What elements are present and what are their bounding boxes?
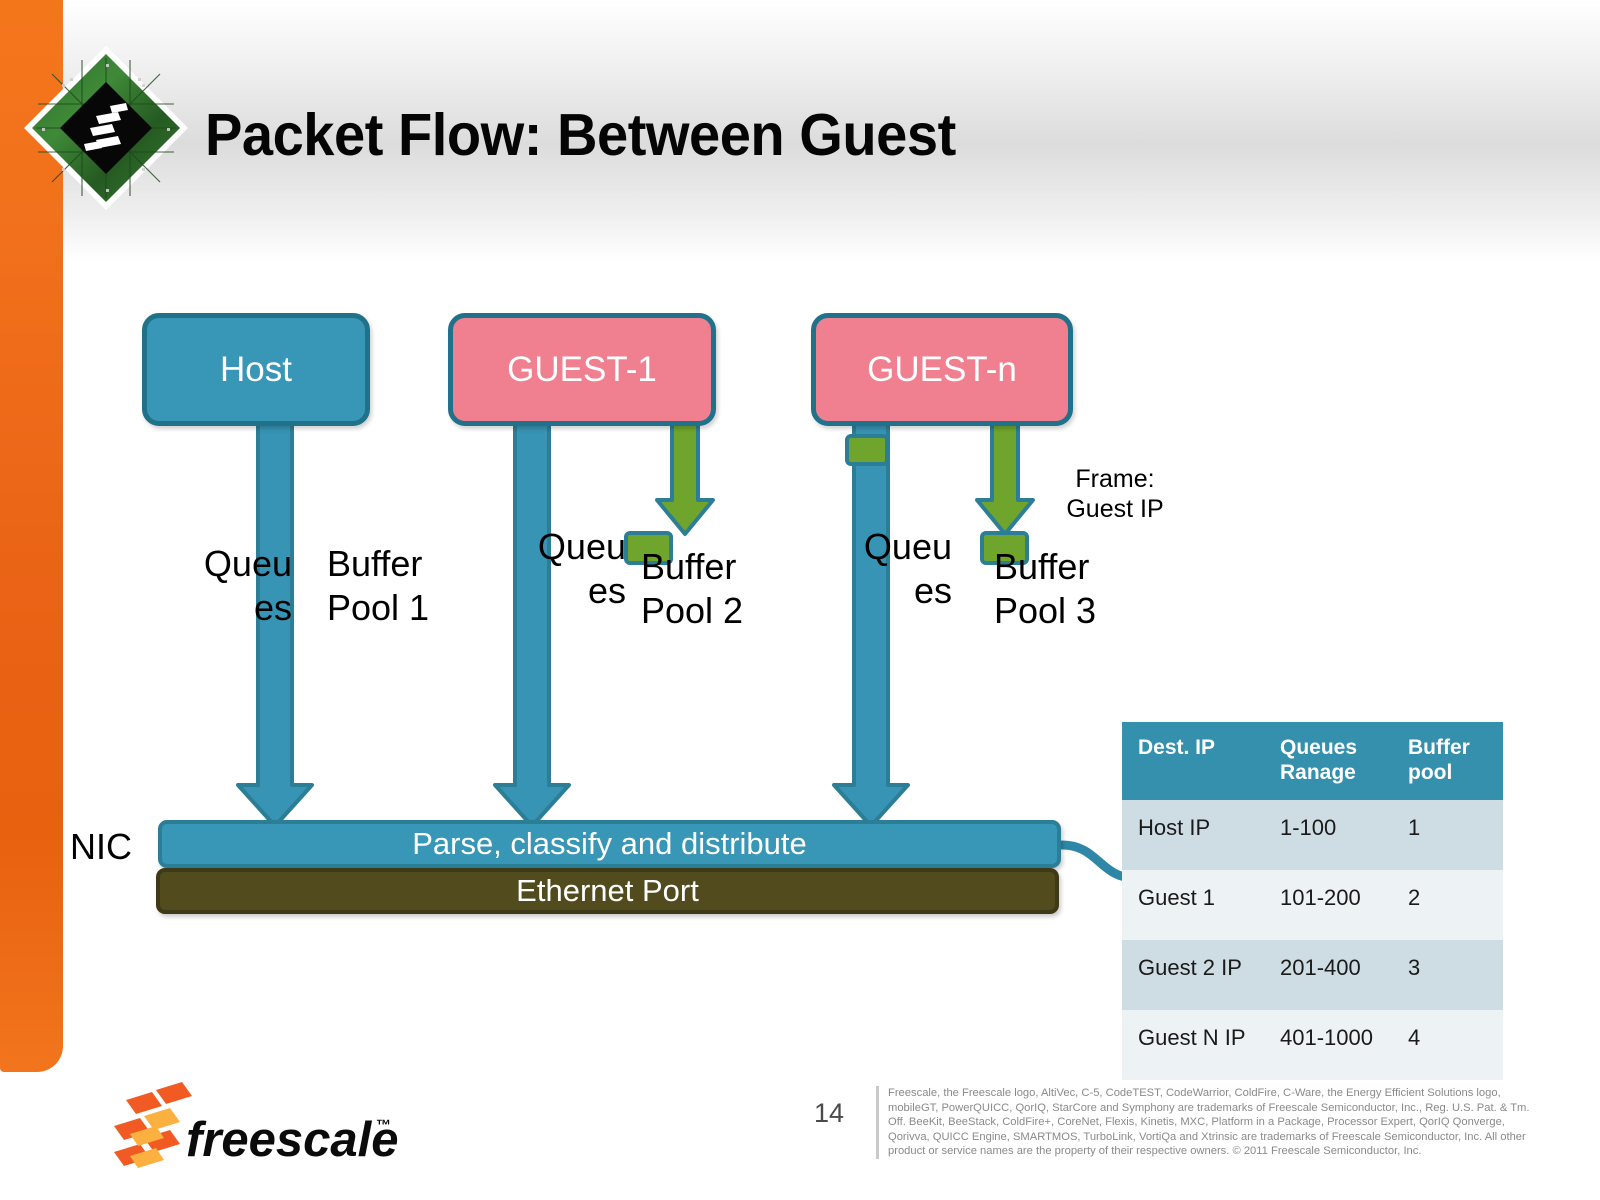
nic-label: NIC <box>70 826 132 868</box>
queues-label-guestn: Queu es <box>842 525 952 613</box>
svg-text:freescale: freescale <box>186 1113 399 1167</box>
cell-dest-ip: Guest N IP <box>1122 1010 1264 1080</box>
ethernet-port-bar[interactable]: Ethernet Port <box>156 868 1059 914</box>
buffer-pool-3-label: Buffer Pool 3 <box>994 545 1184 633</box>
node-guest-1-label: GUEST-1 <box>507 350 657 390</box>
cell-buffer-pool: 2 <box>1392 870 1503 940</box>
cell-queues: 1-100 <box>1264 800 1392 870</box>
parse-bar-label: Parse, classify and distribute <box>412 826 807 862</box>
page-number: 14 <box>814 1098 844 1129</box>
table-row[interactable]: Host IP 1-100 1 <box>1122 800 1503 870</box>
hdr-buffer-line1: Buffer <box>1408 735 1503 760</box>
arrow-guestn-to-nic <box>834 424 908 826</box>
cell-queues: 101-200 <box>1264 870 1392 940</box>
cell-buffer-pool: 3 <box>1392 940 1503 1010</box>
buffer-pool-2-label: Buffer Pool 2 <box>641 545 831 633</box>
node-guest-n-label: GUEST-n <box>867 350 1017 390</box>
table-row[interactable]: Guest N IP 401-1000 4 <box>1122 1010 1503 1080</box>
queue-mapping-table: Dest. IP Queues Ranage Buffer pool Host … <box>1122 722 1503 1080</box>
hdr-dest-line1: Dest. IP <box>1138 735 1264 760</box>
frame-guest-ip-note: Frame: Guest IP <box>1040 464 1190 524</box>
cell-dest-ip: Guest 1 <box>1122 870 1264 940</box>
node-host-label: Host <box>220 350 292 390</box>
cell-dest-ip: Host IP <box>1122 800 1264 870</box>
cell-queues: 401-1000 <box>1264 1010 1392 1080</box>
node-guest-1[interactable]: GUEST-1 <box>448 313 716 426</box>
arrow-guest1-to-bufferpool2 <box>657 424 713 534</box>
frame-chip-guestn-queue <box>845 434 889 466</box>
table-row[interactable]: Guest 1 101-200 2 <box>1122 870 1503 940</box>
arrow-guestn-to-bufferpool3 <box>977 424 1033 534</box>
node-host[interactable]: Host <box>142 313 370 426</box>
queues-label-guest1: Queu es <box>516 525 626 613</box>
parse-classify-distribute-bar[interactable]: Parse, classify and distribute <box>158 820 1061 868</box>
table-header-row: Dest. IP Queues Ranage Buffer pool <box>1122 722 1503 800</box>
cell-dest-ip: Guest 2 IP <box>1122 940 1264 1010</box>
cell-buffer-pool: 4 <box>1392 1010 1503 1080</box>
hdr-queues-line1: Queues <box>1280 735 1392 760</box>
hdr-queues-line2: Ranage <box>1280 760 1392 785</box>
ethernet-bar-label: Ethernet Port <box>516 873 699 909</box>
queues-label-host: Queu es <box>182 542 292 630</box>
freescale-wordmark-logo-icon: freescale ™ <box>104 1068 404 1178</box>
node-guest-n[interactable]: GUEST-n <box>811 313 1073 426</box>
hdr-buffer-line2: pool <box>1408 760 1503 785</box>
table-header-queues-range: Queues Ranage <box>1264 722 1392 800</box>
table-row[interactable]: Guest 2 IP 201-400 3 <box>1122 940 1503 1010</box>
slide-canvas: Packet Flow: Between Guest <box>0 0 1600 1200</box>
table-header-buffer-pool: Buffer pool <box>1392 722 1503 800</box>
buffer-pool-1-label: Buffer Pool 1 <box>327 542 517 630</box>
cell-queues: 201-400 <box>1264 940 1392 1010</box>
table-header-dest-ip: Dest. IP <box>1122 722 1264 800</box>
svg-text:™: ™ <box>376 1117 391 1134</box>
legal-trademark-text: Freescale, the Freescale logo, AltiVec, … <box>876 1086 1548 1159</box>
cell-buffer-pool: 1 <box>1392 800 1503 870</box>
